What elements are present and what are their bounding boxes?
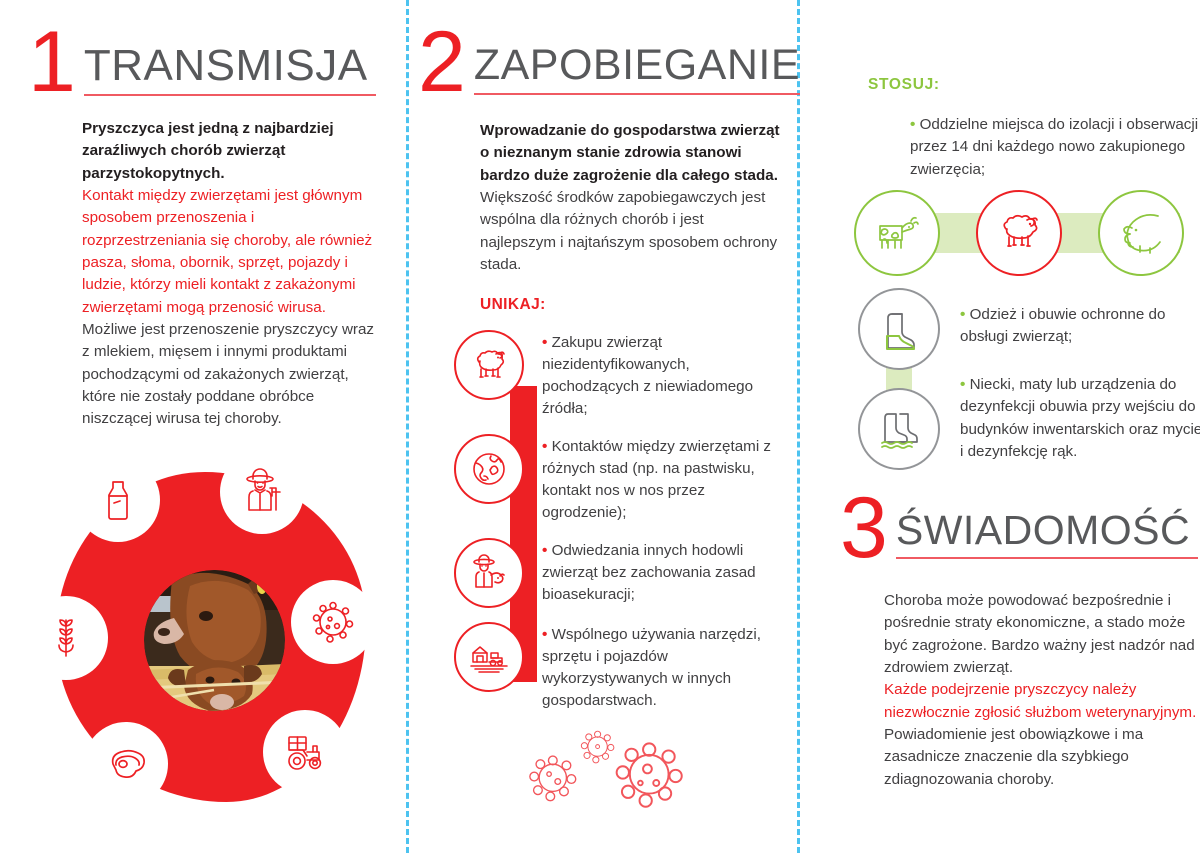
section-number: 3 <box>840 492 886 564</box>
bullet-icon: • <box>960 376 965 393</box>
meat-icon <box>84 722 168 806</box>
section-number: 2 <box>418 26 464 98</box>
isolation-item: • Oddzielne miejsca do izolacji i obserw… <box>910 114 1200 181</box>
bullet-icon: • <box>910 116 915 133</box>
pig-icon <box>1098 190 1184 276</box>
transmisja-heading: 1 TRANSMISJA <box>28 26 376 98</box>
list-item: • Zakupu zwierząt niezidentyfikowanych, … <box>454 330 790 420</box>
farm-tractor-icon <box>454 622 524 692</box>
column-divider-1 <box>406 0 409 853</box>
zapobieganie-body: Wprowadzanie do gospodarstwa zwierząt o … <box>480 120 780 276</box>
transmisja-paragraph-normal: Możliwe jest przenoszenie pryszczycy wra… <box>82 321 374 427</box>
avoid-item-label: Odwiedzania innych hodowli zwierząt bez … <box>542 542 756 603</box>
boot-item-label: Odzież i obuwie ochronne do obsługi zwie… <box>960 306 1165 345</box>
bullet-icon: • <box>542 542 547 559</box>
boot-icon <box>858 288 940 370</box>
bullet-icon: • <box>542 626 547 643</box>
list-item: • Niecki, maty lub urządzenia do dezynfe… <box>960 374 1200 463</box>
swiadomosc-paragraph-3: Powiadomienie jest obowiązkowe i ma zasa… <box>884 726 1143 788</box>
avoid-item-label: Wspólnego używania narzędzi, sprzętu i p… <box>542 626 761 709</box>
animal-species-row <box>854 188 1198 280</box>
infographic-page: 1 TRANSMISJA Pryszczyca jest jedną z naj… <box>0 0 1200 853</box>
zapobieganie-heading: 2 ZAPOBIEGANIE <box>418 26 778 98</box>
protective-equipment-block: • Odzież i obuwie ochronne do obsługi zw… <box>854 286 1198 472</box>
list-item-text: • Odwiedzania innych hodowli zwierząt be… <box>542 538 790 608</box>
swiadomosc-paragraph-1: Choroba może powodować bezpośrednie i po… <box>884 592 1195 676</box>
zapobieganie-intro-bold: Wprowadzanie do gospodarstwa zwierząt o … <box>480 122 780 184</box>
title-underline <box>896 557 1198 559</box>
bullet-icon: • <box>960 306 965 323</box>
zapobieganie-intro-rest: Większość środków zapobiegawczych jest w… <box>480 189 777 273</box>
milk-bottle-icon <box>76 458 160 542</box>
avoid-item-label: Kontaktów między zwierzętami z różnych s… <box>542 438 771 521</box>
column-divider-2 <box>797 0 800 853</box>
cow-icon <box>854 190 940 276</box>
globe-icon <box>454 434 524 504</box>
transmisja-paragraph-red: Kontakt między zwierzętami jest głównym … <box>82 187 372 316</box>
list-item-text: • Zakupu zwierząt niezidentyfikowanych, … <box>542 330 790 420</box>
isolation-item-label: Oddzielne miejsca do izolacji i obserwac… <box>910 116 1198 178</box>
transmisja-paragraph-bold: Pryszczyca jest jedną z najbardziej zara… <box>82 120 334 182</box>
title-underline <box>84 94 376 96</box>
transmisja-body: Pryszczyca jest jedną z najbardziej zara… <box>82 118 382 431</box>
list-item: • Odzież i obuwie ochronne do obsługi zw… <box>960 304 1200 349</box>
virus-cluster-decoration <box>518 725 748 825</box>
avoid-item-label: Zakupu zwierząt niezidentyfikowanych, po… <box>542 334 753 417</box>
boot-item-label: Niecki, maty lub urządzenia do dezynfekc… <box>960 376 1200 460</box>
unikaj-label: UNIKAJ: <box>480 296 546 314</box>
boots-disinfection-icon <box>858 388 940 470</box>
swiadomosc-body: Choroba może powodować bezpośrednie i po… <box>884 590 1200 791</box>
tractor-icon <box>263 710 347 794</box>
list-item-text: • Kontaktów między zwierzętami z różnych… <box>542 434 790 524</box>
cow-calf-photo <box>144 570 285 711</box>
farmer-with-animal-icon <box>454 538 524 608</box>
sheep-icon <box>454 330 524 400</box>
section-number: 1 <box>28 26 74 98</box>
farmer-icon <box>220 450 304 534</box>
swiadomosc-heading: 3 ŚWIADOMOŚĆ <box>840 492 1198 564</box>
wheat-icon <box>24 596 108 680</box>
list-item-text: • Wspólnego używania narzędzi, sprzętu i… <box>542 622 790 712</box>
bullet-icon: • <box>542 334 547 351</box>
sheep-icon <box>976 190 1062 276</box>
transmission-diagram <box>20 448 400 838</box>
list-item: • Wspólnego używania narzędzi, sprzętu i… <box>454 622 790 712</box>
swiadomosc-paragraph-red: Każde podejrzenie pryszczycy należy niez… <box>884 681 1196 720</box>
list-item: • Odwiedzania innych hodowli zwierząt be… <box>454 538 790 608</box>
avoid-list: • Zakupu zwierząt niezidentyfikowanych, … <box>454 330 790 726</box>
bullet-icon: • <box>542 438 547 455</box>
virus-icon <box>291 580 375 664</box>
page-title: ZAPOBIEGANIE <box>474 44 800 87</box>
page-title: ŚWIADOMOŚĆ <box>896 510 1198 551</box>
stosuj-label: STOSUJ: <box>868 76 940 94</box>
list-item: • Kontaktów między zwierzętami z różnych… <box>454 434 790 524</box>
page-title: TRANSMISJA <box>84 44 376 88</box>
title-underline <box>474 93 800 95</box>
